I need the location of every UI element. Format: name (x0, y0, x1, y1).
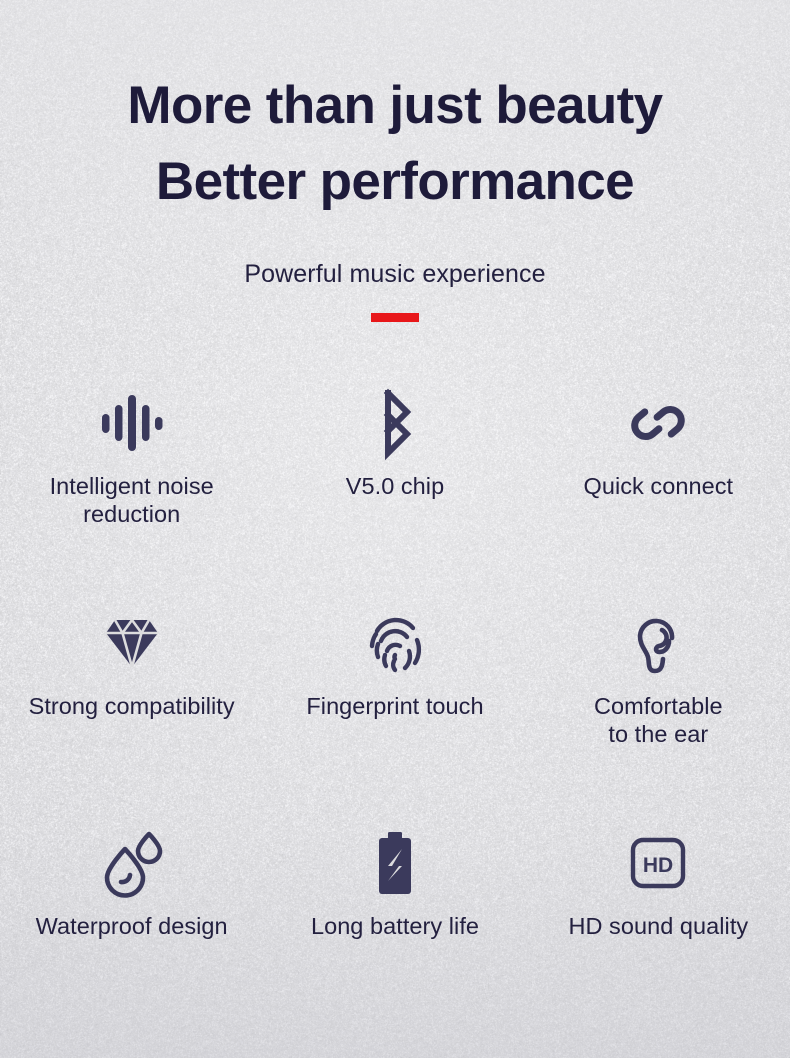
feature-label: Comfortable to the ear (594, 693, 723, 748)
feature-cell-quick-connect: Quick connect (527, 382, 790, 602)
feature-cell-v50-chip: V5.0 chip (263, 382, 526, 602)
chain-link-icon (629, 382, 687, 464)
feature-cell-waterproof-design: Waterproof design (0, 822, 263, 1042)
feature-cell-hd-sound-quality: HD HD sound quality (527, 822, 790, 1042)
feature-cell-strong-compatibility: Strong compatibility (0, 602, 263, 822)
accent-bar-wrapper (0, 289, 790, 322)
feature-row: Intelligent noise reduction V5.0 chip (0, 382, 790, 602)
feature-label: Fingerprint touch (306, 693, 483, 721)
feature-label: V5.0 chip (346, 473, 444, 501)
ear-icon (633, 602, 683, 684)
feature-label: HD sound quality (568, 913, 748, 941)
feature-label: Long battery life (311, 913, 479, 941)
hero-section: More than just beauty Better performance… (0, 0, 790, 322)
feature-grid: Intelligent noise reduction V5.0 chip (0, 382, 790, 1042)
feature-label: Quick connect (584, 473, 734, 501)
feature-label: Strong compatibility (29, 693, 235, 721)
feature-row: Strong compatibility (0, 602, 790, 822)
feature-row: Waterproof design Long battery life (0, 822, 790, 1042)
headline-line-1: More than just beauty (0, 0, 790, 132)
feature-cell-fingerprint-touch: Fingerprint touch (263, 602, 526, 822)
headline-line-2: Better performance (0, 132, 790, 208)
hero-subtitle: Powerful music experience (0, 208, 790, 289)
bluetooth-icon (373, 382, 417, 464)
battery-charge-icon (375, 822, 415, 904)
sound-wave-icon (100, 382, 164, 464)
red-accent-bar (371, 313, 419, 322)
hd-badge-icon: HD (630, 822, 686, 904)
feature-cell-intelligent-noise-reduction: Intelligent noise reduction (0, 382, 263, 602)
feature-cell-long-battery-life: Long battery life (263, 822, 526, 1042)
promo-banner: More than just beauty Better performance… (0, 0, 790, 1058)
feature-label: Intelligent noise reduction (50, 473, 214, 528)
water-drop-icon (100, 822, 164, 904)
fingerprint-icon (367, 602, 423, 684)
feature-cell-comfortable-to-the-ear: Comfortable to the ear (527, 602, 790, 822)
svg-text:HD: HD (643, 854, 673, 877)
feature-label: Waterproof design (36, 913, 228, 941)
diamond-icon (102, 602, 162, 684)
